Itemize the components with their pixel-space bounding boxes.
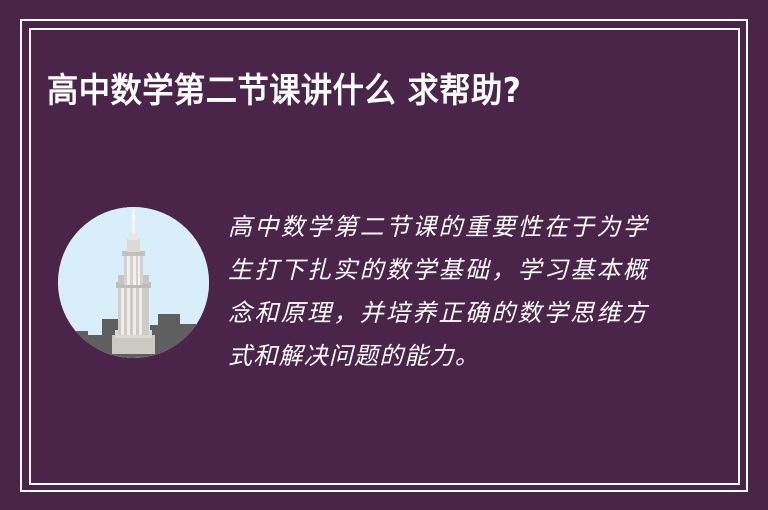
article-content: 高中数学第二节课的重要性在于为学生打下扎实的数学基础，学习基本概念和原理，并培养… (0, 0, 768, 510)
article-thumbnail (58, 207, 209, 358)
empire-state-building-icon (58, 207, 209, 358)
article-body: 高中数学第二节课的重要性在于为学生打下扎实的数学基础，学习基本概念和原理，并培养… (228, 206, 648, 378)
article-card: 高中数学第二节课讲什么 求帮助? (0, 0, 768, 510)
